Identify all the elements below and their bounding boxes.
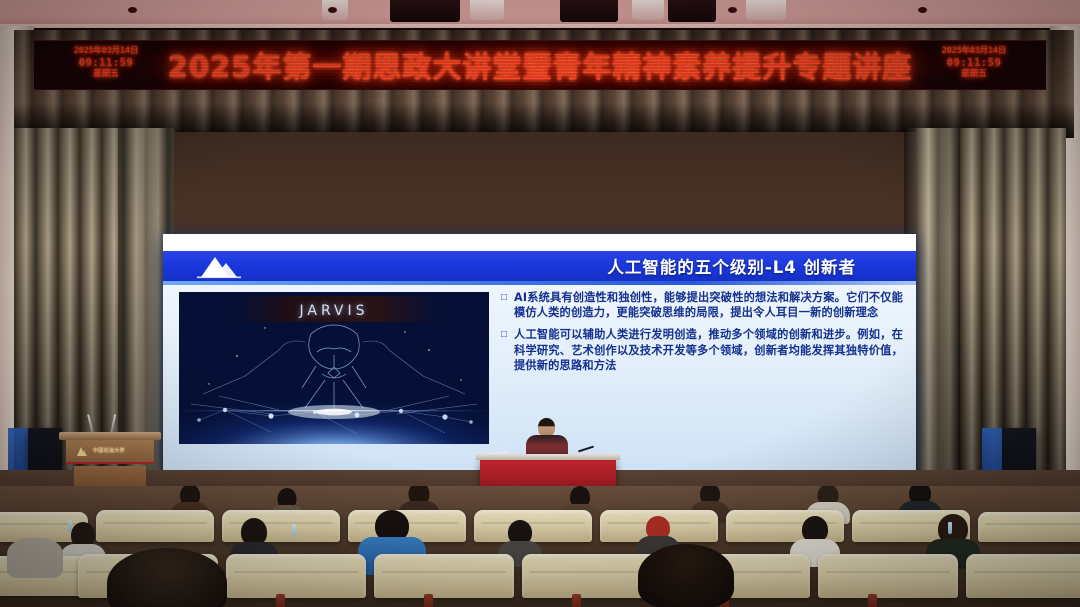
led-clock-right-time: 09:11:59 (920, 58, 1028, 69)
person-head (107, 548, 227, 607)
water-bottle (948, 522, 952, 534)
bullet-square-icon: □ (501, 290, 514, 320)
mountain-logo-icon (181, 254, 253, 280)
slide-bullet-text: 人工智能可以辅助人类进行发明创造，推动多个领域的创新和进步。例如，在科学研究、艺… (514, 327, 903, 373)
person-head (7, 538, 63, 578)
ceiling-light-dot (128, 7, 137, 13)
ceiling-light-dot (918, 7, 927, 13)
audience-seat (374, 554, 514, 598)
seat-post (868, 594, 877, 607)
ceiling-light-fixture (390, 0, 460, 22)
slide-title: 人工智能的五个级别-L4 创新者 (607, 254, 856, 278)
jarvis-ai-image: JARVIS (179, 292, 489, 444)
ceiling-light-fixture (560, 0, 618, 22)
audience-seat (818, 554, 958, 598)
audience-seat (966, 554, 1080, 598)
bullet-square-icon: □ (501, 327, 514, 373)
audience-seat (96, 510, 214, 542)
led-clock-right-date: 2025年03月14日 (920, 47, 1028, 56)
audience-person (626, 544, 746, 607)
audience-person (0, 538, 70, 607)
banner-title: 2025年第一期思政大讲堂暨青年精神素养提升专题讲座 (34, 44, 1046, 86)
seat-post (276, 594, 285, 607)
slide-bullet-list: □ AI系统具有创造性和独创性，能够提出突破性的想法和解决方案。它们不仅能模仿人… (501, 290, 903, 380)
led-clock-right: 2025年03月14日 09:11:59 星期五 (920, 47, 1028, 87)
lecture-hall-photo: 2025年03月14日 09:11:59 星期五 2025年第一期思政大讲堂暨青… (0, 0, 1080, 607)
slide-title-bar: 人工智能的五个级别-L4 创新者 (163, 251, 916, 281)
seat-post (424, 594, 433, 607)
audience-seat (978, 512, 1080, 542)
ceiling-light-lens (632, 0, 664, 20)
led-banner: 2025年03月14日 09:11:59 星期五 2025年第一期思政大讲堂暨青… (34, 40, 1046, 90)
head-table-top (476, 454, 620, 460)
jarvis-label: JARVIS (179, 303, 489, 319)
slide-top-band (163, 234, 916, 251)
ceiling-light-lens (470, 0, 504, 20)
podium-plate-text: 中国石油大学 (93, 447, 125, 454)
podium-top-surface (59, 432, 161, 440)
led-clock-right-weekday: 星期五 (920, 70, 1028, 79)
person-head (638, 544, 734, 607)
ceiling-light-dot (728, 7, 737, 13)
water-bottle (68, 520, 72, 532)
slide-bullet-item: □ AI系统具有创造性和独创性，能够提出突破性的想法和解决方案。它们不仅能模仿人… (501, 290, 903, 320)
audience-area (0, 486, 1080, 607)
ceiling-light-dot (328, 7, 337, 13)
ceiling-light-fixture (668, 0, 716, 22)
slide-bullet-text: AI系统具有创造性和独创性，能够提出突破性的想法和解决方案。它们不仅能模仿人类的… (514, 290, 903, 320)
podium-front-panel: 中国石油大学 (66, 440, 154, 464)
audience-seat (226, 554, 366, 598)
seat-post (572, 594, 581, 607)
ceiling-light-lens (746, 0, 786, 20)
mountain-logo-icon (74, 444, 89, 459)
slide-bullet-item: □ 人工智能可以辅助人类进行发明创造，推动多个领域的创新和进步。例如，在科学研究… (501, 327, 903, 373)
audience-person (92, 548, 242, 607)
water-bottle (292, 524, 296, 536)
